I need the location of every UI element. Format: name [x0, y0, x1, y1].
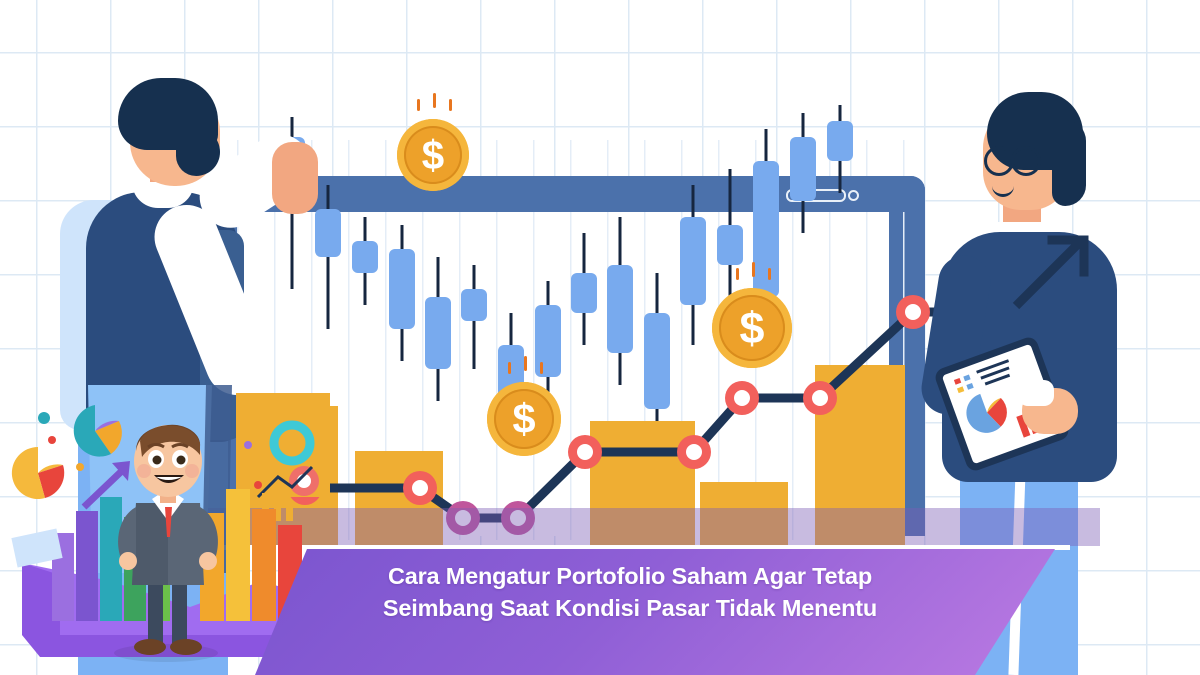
glasses-lens-left-icon — [984, 146, 1014, 176]
coin-spark-icon — [540, 362, 543, 374]
coin-spark-icon — [752, 262, 755, 277]
candle-body — [790, 137, 816, 201]
dollar-coin-icon: $ — [712, 288, 792, 368]
glasses-bridge-icon — [1006, 155, 1014, 158]
candle-body — [827, 121, 853, 161]
candle-body — [607, 265, 633, 353]
page-title-line1: Cara Mengatur Portofolio Saham Agar Teta… — [300, 560, 960, 592]
candlestick — [717, 169, 743, 297]
candlestick — [827, 105, 853, 193]
left-person-hair — [118, 78, 218, 150]
candle-body — [753, 161, 779, 297]
candlestick — [425, 257, 451, 401]
candlestick — [461, 265, 487, 369]
page-title: Cara Mengatur Portofolio Saham Agar Teta… — [300, 560, 960, 625]
candlestick — [389, 225, 415, 361]
dollar-coin-icon: $ — [487, 382, 561, 456]
candlestick — [607, 217, 633, 385]
candle-body — [315, 209, 341, 257]
trending-up-arrow-icon — [1010, 222, 1100, 312]
coin-spark-icon — [449, 99, 452, 111]
glasses-lens-right-icon — [1011, 146, 1041, 176]
candle-body — [717, 225, 743, 265]
candle-body — [389, 249, 415, 329]
coin-face: $ — [404, 126, 462, 184]
candlestick — [352, 217, 378, 305]
coin-face: $ — [494, 389, 554, 449]
candlestick — [315, 185, 341, 329]
right-person-hair-side — [1052, 120, 1086, 206]
illustration-canvas: $$$ — [0, 0, 1200, 675]
coin-spark-icon — [524, 356, 527, 371]
left-person-hand — [272, 142, 318, 214]
coin-spark-icon — [736, 268, 739, 280]
coin-spark-icon — [508, 362, 511, 374]
candle-body — [535, 305, 561, 377]
candlestick — [571, 233, 597, 345]
candlestick — [790, 113, 816, 233]
right-person-cuff — [1018, 380, 1054, 406]
coin-face: $ — [719, 295, 785, 361]
candle-wick — [327, 185, 330, 329]
page-title-line2: Seimbang Saat Kondisi Pasar Tidak Menent… — [300, 592, 960, 624]
dollar-coin-icon: $ — [397, 119, 469, 191]
candle-body — [680, 217, 706, 305]
coin-spark-icon — [768, 268, 771, 280]
coin-spark-icon — [433, 93, 436, 108]
coin-spark-icon — [417, 99, 420, 111]
candle-body — [571, 273, 597, 313]
candle-body — [352, 241, 378, 273]
candle-body — [425, 297, 451, 369]
candlestick — [680, 185, 706, 345]
candlestick — [644, 273, 670, 433]
candle-body — [644, 313, 670, 409]
candle-body — [461, 289, 487, 321]
